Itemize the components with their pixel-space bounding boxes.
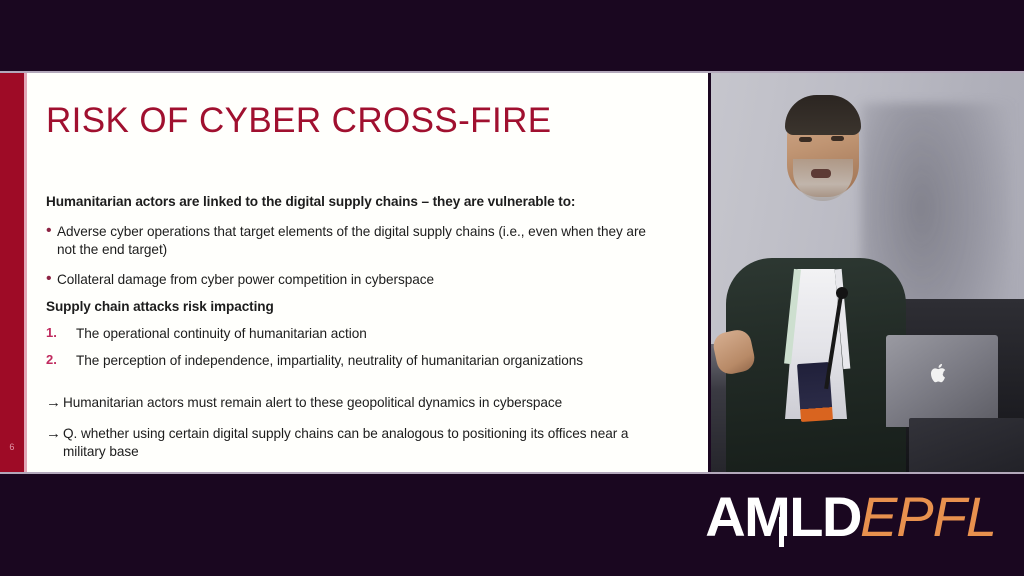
bullet-marker-icon: •	[46, 223, 57, 238]
slide-content: RISK OF CYBER CROSS-FIRE Humanitarian ac…	[44, 73, 694, 474]
numbered-text: The operational continuity of humanitari…	[76, 325, 367, 343]
slide-arrow-item: → Humanitarian actors must remain alert …	[46, 394, 666, 412]
slide-numbered-item: 2. The perception of independence, impar…	[46, 352, 686, 370]
arrow-right-icon: →	[46, 394, 63, 412]
slide-arrow-item: → Q. whether using certain digital suppl…	[46, 425, 671, 461]
amld-wordmark: AMLD	[705, 489, 861, 545]
secondary-laptop	[909, 418, 1024, 474]
bullet-text: Adverse cyber operations that target ele…	[57, 223, 656, 259]
speaker-mouth	[811, 169, 831, 178]
slide-bullet-item: • Collateral damage from cyber power com…	[46, 271, 656, 289]
numbered-marker: 1.	[46, 325, 76, 340]
slide-subheading: Supply chain attacks risk impacting	[46, 298, 666, 316]
numbered-marker: 2.	[46, 352, 76, 367]
amld-l-descender	[779, 517, 784, 547]
arrow-text: Q. whether using certain digital supply …	[63, 425, 663, 461]
apple-logo-icon	[930, 363, 948, 383]
amld-epfl-logo: AMLD EPFL	[705, 489, 996, 545]
speaker-video-feed	[711, 73, 1024, 474]
slide-accent-bar	[0, 73, 24, 474]
slide-bullet-item: • Adverse cyber operations that target e…	[46, 223, 656, 259]
arrow-text: Humanitarian actors must remain alert to…	[63, 394, 562, 412]
slide-lead-statement: Humanitarian actors are linked to the di…	[46, 193, 666, 211]
letterbox-top	[0, 0, 1024, 73]
bullet-text: Collateral damage from cyber power compe…	[57, 271, 434, 289]
bullet-marker-icon: •	[46, 271, 57, 286]
slide-bottom-seam	[0, 472, 1024, 474]
slide-top-seam	[0, 71, 1024, 73]
video-player-stage: 6 RISK OF CYBER CROSS-FIRE Humanitarian …	[0, 0, 1024, 576]
slide-number: 6	[0, 442, 24, 452]
macbook-lid	[886, 335, 998, 427]
slide-numbered-item: 1. The operational continuity of humanit…	[46, 325, 676, 343]
numbered-text: The perception of independence, impartia…	[76, 352, 583, 370]
epfl-wordmark: EPFL	[860, 489, 996, 545]
slide-accent-stripe	[24, 73, 27, 474]
speaker-eye-right	[831, 136, 844, 141]
arrow-right-icon: →	[46, 425, 63, 443]
presentation-slide: 6 RISK OF CYBER CROSS-FIRE Humanitarian …	[0, 73, 708, 474]
speaker-eye-left	[799, 137, 812, 142]
microphone-capsule	[836, 287, 848, 299]
slide-title: RISK OF CYBER CROSS-FIRE	[46, 101, 552, 141]
